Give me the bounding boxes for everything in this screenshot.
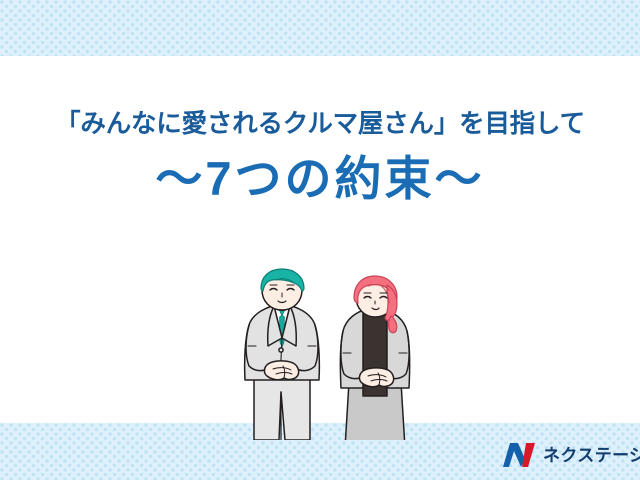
female-staff-figure <box>340 276 409 440</box>
logo-wordmark: ネクステージ <box>543 447 640 464</box>
brand-logo: ネクステージ <box>502 440 630 470</box>
top-dot-band <box>0 0 640 56</box>
nextage-n-mark-icon <box>502 442 536 468</box>
headline-block: 「みんなに愛されるクルマ屋さん」を目指して 〜7つの約束〜 <box>0 110 640 205</box>
headline-secondary: 〜7つの約束〜 <box>0 153 640 205</box>
two-staff-bowing-illustration <box>236 268 426 440</box>
headline-primary: 「みんなに愛されるクルマ屋さん」を目指して <box>0 110 640 139</box>
promotional-banner: 「みんなに愛されるクルマ屋さん」を目指して 〜7つの約束〜 <box>0 0 640 480</box>
male-staff-figure <box>245 269 320 440</box>
